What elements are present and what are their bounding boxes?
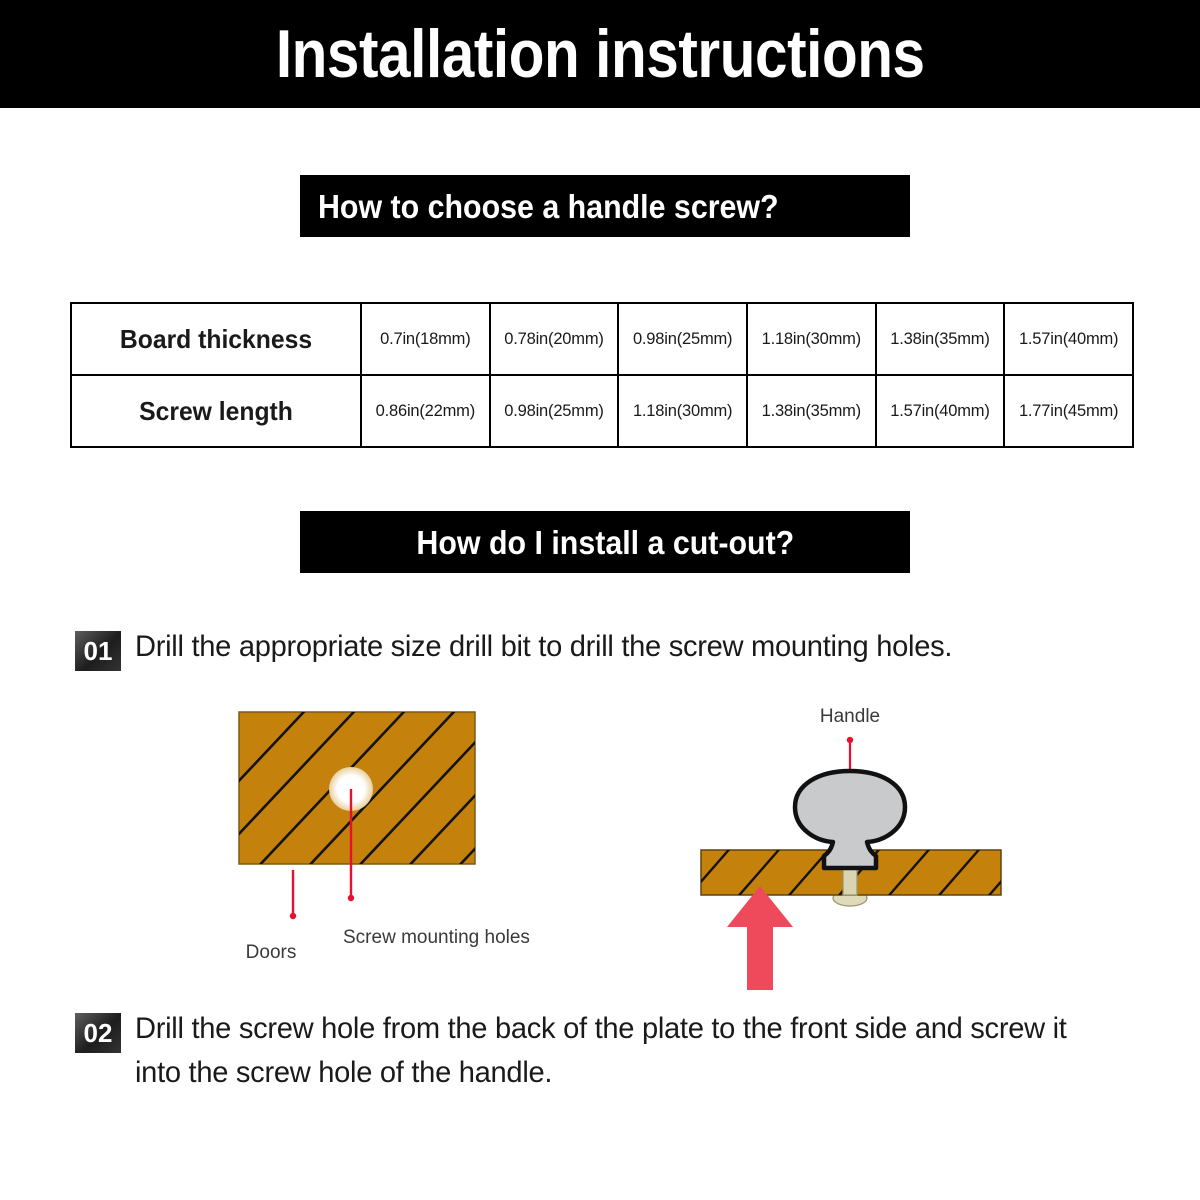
table-row: Screw length 0.86in(22mm) 0.98in(25mm) 1… [71, 375, 1133, 447]
board-thickness-value-1: 0.7in(18mm) [361, 303, 490, 375]
screw-length-value-3: 1.18in(30mm) [618, 375, 747, 447]
screw-length-value-6: 1.77in(45mm) [1004, 375, 1133, 447]
step-text-01: Drill the appropriate size drill bit to … [135, 625, 952, 669]
section-banner-screw-choice: How to choose a handle screw? [300, 175, 910, 237]
screw-spec-table: Board thickness 0.7in(18mm) 0.78in(20mm)… [70, 302, 1134, 448]
section-banner-cutout-install: How do I install a cut-out? [300, 511, 910, 573]
screw-length-value-5: 1.57in(40mm) [876, 375, 1005, 447]
leader-dot-screw-holes [348, 895, 354, 901]
door-panel-diagram: Doors Screw mounting holes [225, 690, 545, 980]
board-thickness-value-6: 1.57in(40mm) [1004, 303, 1133, 375]
row-header-board-thickness: Board thickness [78, 303, 354, 375]
step-number-badge-02: 02 [75, 1013, 121, 1053]
install-step-01: 01 Drill the appropriate size drill bit … [75, 625, 1135, 671]
step-number-badge-01: 01 [75, 631, 121, 671]
board-thickness-value-3: 0.98in(25mm) [618, 303, 747, 375]
leader-dot-doors [290, 913, 296, 919]
caption-doors: Doors [246, 942, 297, 963]
page-title-banner: Installation instructions [0, 0, 1200, 108]
board-thickness-value-5: 1.38in(35mm) [876, 303, 1005, 375]
section-title-screw-choice: How to choose a handle screw? [318, 190, 779, 223]
screw-length-value-2: 0.98in(25mm) [490, 375, 619, 447]
figure-door-panel: Doors Screw mounting holes [225, 690, 545, 985]
step-text-02: Drill the screw hole from the back of th… [135, 1007, 1095, 1094]
board-thickness-value-4: 1.18in(30mm) [747, 303, 876, 375]
caption-screw-mounting-holes: Screw mounting holes [343, 927, 530, 948]
screw-length-value-4: 1.38in(35mm) [747, 375, 876, 447]
screw-length-value-1: 0.86in(22mm) [361, 375, 490, 447]
board-thickness-value-2: 0.78in(20mm) [490, 303, 619, 375]
figure-handle-assembly: Handle [685, 690, 1025, 1005]
section-title-cutout-install: How do I install a cut-out? [416, 526, 794, 559]
row-header-screw-length: Screw length [78, 375, 354, 447]
upward-arrow-icon [727, 886, 793, 990]
table-row: Board thickness 0.7in(18mm) 0.78in(20mm)… [71, 303, 1133, 375]
page-title: Installation instructions [276, 20, 925, 88]
caption-handle: Handle [820, 706, 880, 727]
install-step-02: 02 Drill the screw hole from the back of… [75, 1007, 1135, 1094]
handle-assembly-diagram: Handle [685, 690, 1025, 1000]
